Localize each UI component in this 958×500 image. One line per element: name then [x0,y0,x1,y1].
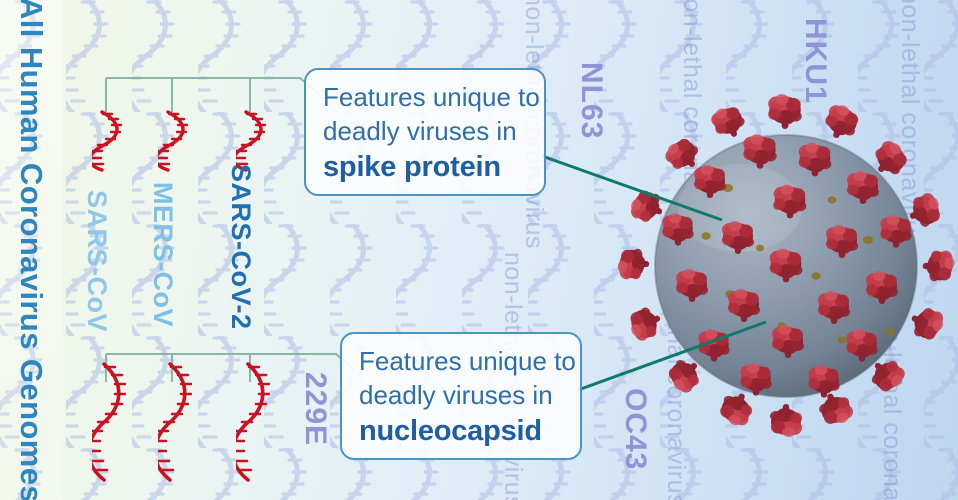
rna-strand-sars-cov-bottom [92,362,126,482]
page-title: All Human Coronavirus Genomes [13,0,49,500]
nucleocapsid-bracket-connector [104,348,360,388]
virus-label-nl63: NL63 [574,62,608,139]
spike-bracket-connector [104,72,324,114]
rna-strand-mers-cov-top [158,110,192,172]
callout-spike-protein[interactable]: Features unique to deadly viruses in spi… [304,68,546,196]
virus-label-mers-cov: MERS-CoV [147,182,178,327]
rna-strand-sars-cov-top [92,110,126,172]
callout-line-1: Features unique to [359,345,564,379]
spike-leader-line [540,150,730,230]
virus-label-hku1: HKU1 [798,18,832,104]
callout-line-2: deadly viruses in [359,379,564,413]
callout-line-1: Features unique to [323,81,528,115]
rna-strand-mers-cov-bottom [158,362,192,482]
infographic-canvas: non-lethal coronavirus non-lethal corona… [0,0,958,500]
virus-label-sars-cov-2: SARS-CoV-2 [225,164,256,330]
virus-label-sars-cov: SARS-CoV [81,190,112,332]
title-band: All Human Coronavirus Genomes [0,0,62,500]
callout-emphasis-nucleocapsid: nucleocapsid [359,413,564,450]
callout-emphasis-spike-protein: spike protein [323,149,528,186]
rna-strand-sars-cov-2-bottom [236,362,270,482]
callout-nucleocapsid[interactable]: Features unique to deadly viruses in nuc… [340,332,582,460]
virus-label-oc43: OC43 [618,388,652,470]
rna-strand-sars-cov-2-top [236,110,270,172]
nucleocapsid-leader-line [576,310,776,400]
callout-line-2: deadly viruses in [323,115,528,149]
